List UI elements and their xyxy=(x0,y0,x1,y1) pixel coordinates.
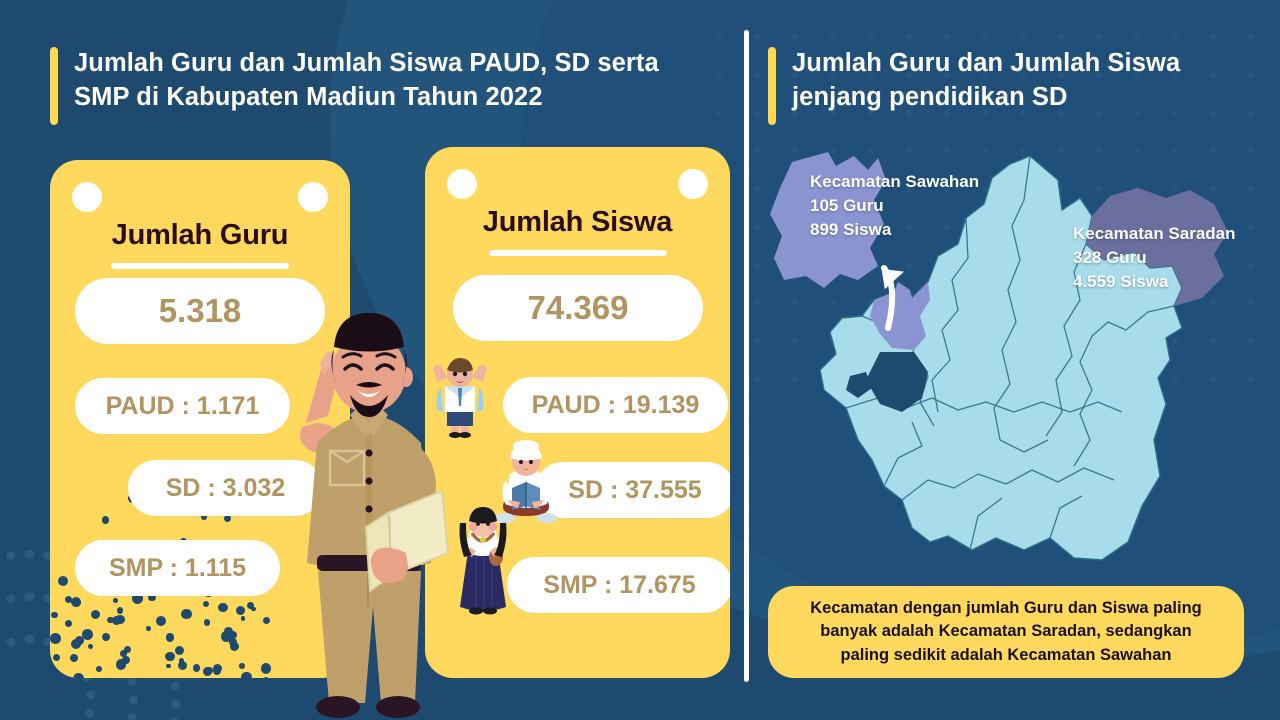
card-heading-underline xyxy=(111,263,289,269)
guru-smp-value: SMP : 1.115 xyxy=(75,540,280,596)
siswa-paud-value: PAUD : 19.139 xyxy=(503,377,728,433)
card-punch-hole-left xyxy=(447,169,477,199)
title-accent-bar xyxy=(50,47,58,125)
smp-student-illustration xyxy=(452,505,514,615)
card-heading-underline xyxy=(489,250,667,256)
siswa-smp-value: SMP : 17.675 xyxy=(507,557,730,613)
left-panel-title-text: Jumlah Guru dan Jumlah Siswa PAUD, SD se… xyxy=(74,47,659,115)
right-panel-title-text: Jumlah Guru dan Jumlah Siswa jenjang pen… xyxy=(792,47,1180,115)
summary-note-box: Kecamatan dengan jumlah Guru dan Siswa p… xyxy=(768,586,1244,678)
card-punch-hole-left xyxy=(72,182,102,212)
summary-note-text: Kecamatan dengan jumlah Guru dan Siswa p… xyxy=(810,597,1202,667)
siswa-total-value: 74.369 xyxy=(453,275,703,341)
card-siswa-heading: Jumlah Siswa xyxy=(425,206,730,239)
title-accent-bar xyxy=(768,47,776,125)
siswa-sd-value: SD : 37.555 xyxy=(535,462,730,518)
card-punch-hole-right xyxy=(678,169,708,199)
card-guru-heading: Jumlah Guru xyxy=(50,219,350,252)
left-panel-title: Jumlah Guru dan Jumlah Siswa PAUD, SD se… xyxy=(50,47,710,125)
infographic-canvas: Jumlah Guru dan Jumlah Siswa PAUD, SD se… xyxy=(0,0,1280,720)
card-punch-hole-right xyxy=(298,182,328,212)
panel-divider xyxy=(744,30,749,682)
right-panel-title: Jumlah Guru dan Jumlah Siswa jenjang pen… xyxy=(768,47,1238,125)
map-label-saradan: Kecamatan Saradan 328 Guru 4.559 Siswa xyxy=(1073,222,1236,294)
map-label-sawahan: Kecamatan Sawahan 105 Guru 899 Siswa xyxy=(810,170,979,242)
guru-paud-value: PAUD : 1.171 xyxy=(75,378,290,434)
paud-student-illustration xyxy=(427,356,493,438)
